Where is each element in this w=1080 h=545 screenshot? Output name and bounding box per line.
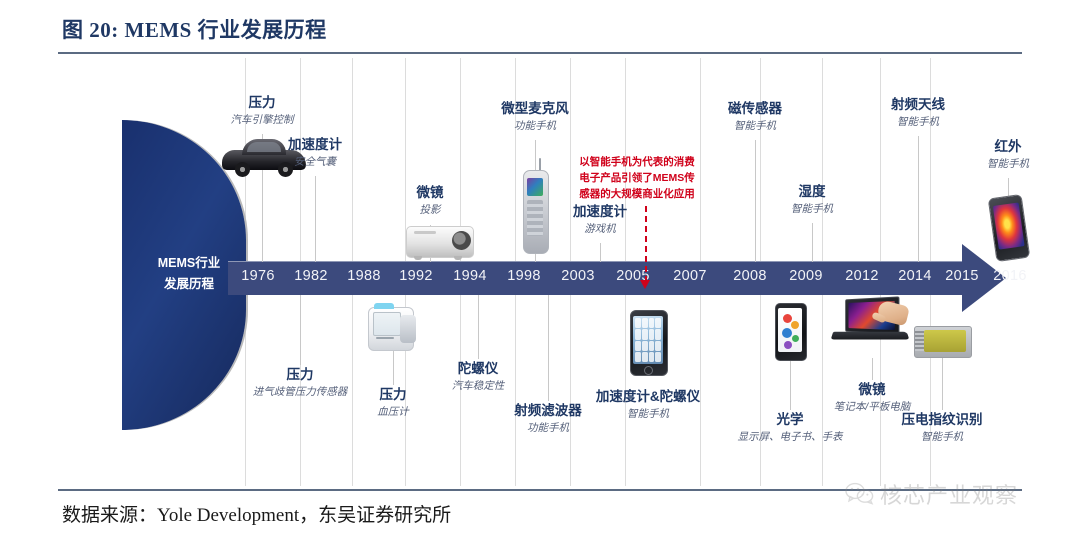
callout-arrow-head-icon [640, 280, 650, 289]
timeline-axis-label: MEMS行业 发展历程 [136, 253, 242, 295]
event-above-1982: 加速度计 安全气囊 [288, 136, 342, 170]
timeline-year-2015: 2015 [945, 268, 978, 284]
event-below-1992: 压力 血压计 [377, 386, 409, 420]
page-title: 图 20: MEMS 行业发展历程 [62, 14, 327, 44]
connector-stem [755, 140, 756, 262]
event-above-2005: 加速度计 游戏机 [573, 203, 627, 237]
laptop-image [832, 298, 912, 354]
event-label: 压电指纹识别 [902, 411, 983, 428]
connector-stem [918, 136, 919, 262]
event-below-2016: 压电指纹识别 智能手机 [902, 411, 983, 445]
event-below-2012: 光学 显示屏、电子书、手表 [738, 411, 843, 445]
event-label: 压力 [377, 386, 409, 403]
timeline-year-1988: 1988 [347, 268, 380, 284]
timeline-year-2007: 2007 [673, 268, 706, 284]
timeline-year-2016: 2016 [993, 268, 1026, 284]
event-sublabel: 智能手机 [791, 202, 833, 217]
timeline-year-1992: 1992 [399, 268, 432, 284]
event-label: 微镜 [417, 184, 444, 201]
connector-stem [1008, 178, 1009, 196]
event-sublabel: 进气歧管压力传感器 [253, 385, 348, 400]
timeline-year-2009: 2009 [789, 268, 822, 284]
event-label: 压力 [253, 366, 348, 383]
connector-stem [942, 354, 943, 410]
event-sublabel: 汽车引擎控制 [231, 113, 294, 128]
highlight-callout: 以智能手机为代表的消费 电子产品引领了MEMS传 感器的大规模商业化应用 [578, 154, 696, 202]
event-label: 微镜 [834, 381, 910, 398]
connector-stem [315, 176, 316, 262]
timeline-year-2014: 2014 [898, 268, 931, 284]
event-label: 陀螺仪 [452, 360, 505, 377]
event-label: 光学 [738, 411, 843, 428]
event-sublabel: 智能手机 [728, 119, 782, 134]
event-above-1994: 微镜 投影 [417, 184, 444, 218]
event-sublabel: 血压计 [377, 405, 409, 420]
event-above-2003: 微型麦克风 功能手机 [501, 100, 569, 134]
feature-phone-image [523, 158, 549, 254]
event-sublabel: 游戏机 [573, 222, 627, 237]
timeline-year-1998: 1998 [507, 268, 540, 284]
timeline-year-2008: 2008 [733, 268, 766, 284]
smartphone-image [630, 310, 668, 376]
event-label: 加速度计&陀螺仪 [596, 388, 700, 405]
event-label: 加速度计 [288, 136, 342, 153]
fingerprint-sensor-image [914, 326, 972, 358]
timeline-year-2003: 2003 [561, 268, 594, 284]
event-label: 射频天线 [891, 96, 945, 113]
thermal-phone-image [992, 196, 1026, 260]
projector-image [406, 218, 476, 262]
event-label: 磁传感器 [728, 100, 782, 117]
event-sublabel: 功能手机 [514, 421, 582, 436]
event-sublabel: 投影 [417, 203, 444, 218]
event-above-2016: 红外 智能手机 [987, 138, 1029, 172]
event-sublabel: 智能手机 [596, 407, 700, 422]
callout-arrow-line [645, 206, 647, 282]
connector-stem [548, 295, 549, 401]
event-label: 射频滤波器 [514, 402, 582, 419]
source-note: 数据来源：Yole Development，东吴证券研究所 [62, 500, 451, 527]
event-label: 压力 [231, 94, 294, 111]
watermark-text: 核芯产业观察 [880, 478, 1018, 510]
connector-stem [872, 358, 873, 380]
timeline-axis-label-line2: 发展历程 [136, 274, 242, 295]
timeline-axis-label-line1: MEMS行业 [136, 253, 242, 274]
event-below-1982: 压力 进气歧管压力传感器 [253, 366, 348, 400]
event-above-2008: 磁传感器 智能手机 [728, 100, 782, 134]
timeline-year-1982: 1982 [294, 268, 327, 284]
event-label: 湿度 [791, 183, 833, 200]
title-divider [58, 52, 1022, 54]
event-below-2007: 加速度计&陀螺仪 智能手机 [596, 388, 700, 422]
event-above-2014: 射频天线 智能手机 [891, 96, 945, 130]
connector-stem [393, 348, 394, 385]
callout-line-1: 以智能手机为代表的消费 [578, 154, 696, 170]
wechat-icon [845, 482, 875, 506]
event-above-1976: 压力 汽车引擎控制 [231, 94, 294, 128]
callout-line-2: 电子产品引领了MEMS传 [578, 170, 696, 186]
connector-stem [300, 295, 301, 365]
callout-line-3: 感器的大规模商业化应用 [578, 186, 696, 202]
event-above-2009: 湿度 智能手机 [791, 183, 833, 217]
event-sublabel: 功能手机 [501, 119, 569, 134]
event-sublabel: 智能手机 [987, 157, 1029, 172]
event-sublabel: 智能手机 [891, 115, 945, 130]
event-label: 红外 [987, 138, 1029, 155]
connector-stem [812, 223, 813, 262]
event-label: 微型麦克风 [501, 100, 569, 117]
mems-timeline-chart: MEMS行业 发展历程 1976 1982 1988 1992 1994 199… [0, 58, 1080, 486]
connector-stem [600, 243, 601, 262]
event-sublabel: 汽车稳定性 [452, 379, 505, 394]
event-below-1998: 陀螺仪 汽车稳定性 [452, 360, 505, 394]
event-below-2015: 微镜 笔记本/平板电脑 [834, 381, 910, 415]
event-label: 加速度计 [573, 203, 627, 220]
blood-pressure-monitor-image [368, 301, 420, 353]
event-sublabel: 安全气囊 [288, 155, 342, 170]
event-sublabel: 智能手机 [902, 430, 983, 445]
event-sublabel: 笔记本/平板电脑 [834, 400, 910, 415]
event-sublabel: 显示屏、电子书、手表 [738, 430, 843, 445]
tablet-image [775, 303, 807, 361]
timeline-year-2012: 2012 [845, 268, 878, 284]
event-below-2003: 射频滤波器 功能手机 [514, 402, 582, 436]
connector-stem [790, 358, 791, 410]
watermark: 核芯产业观察 [845, 478, 1018, 510]
timeline-year-1994: 1994 [453, 268, 486, 284]
connector-stem [478, 295, 479, 359]
timeline-year-1976: 1976 [241, 268, 274, 284]
